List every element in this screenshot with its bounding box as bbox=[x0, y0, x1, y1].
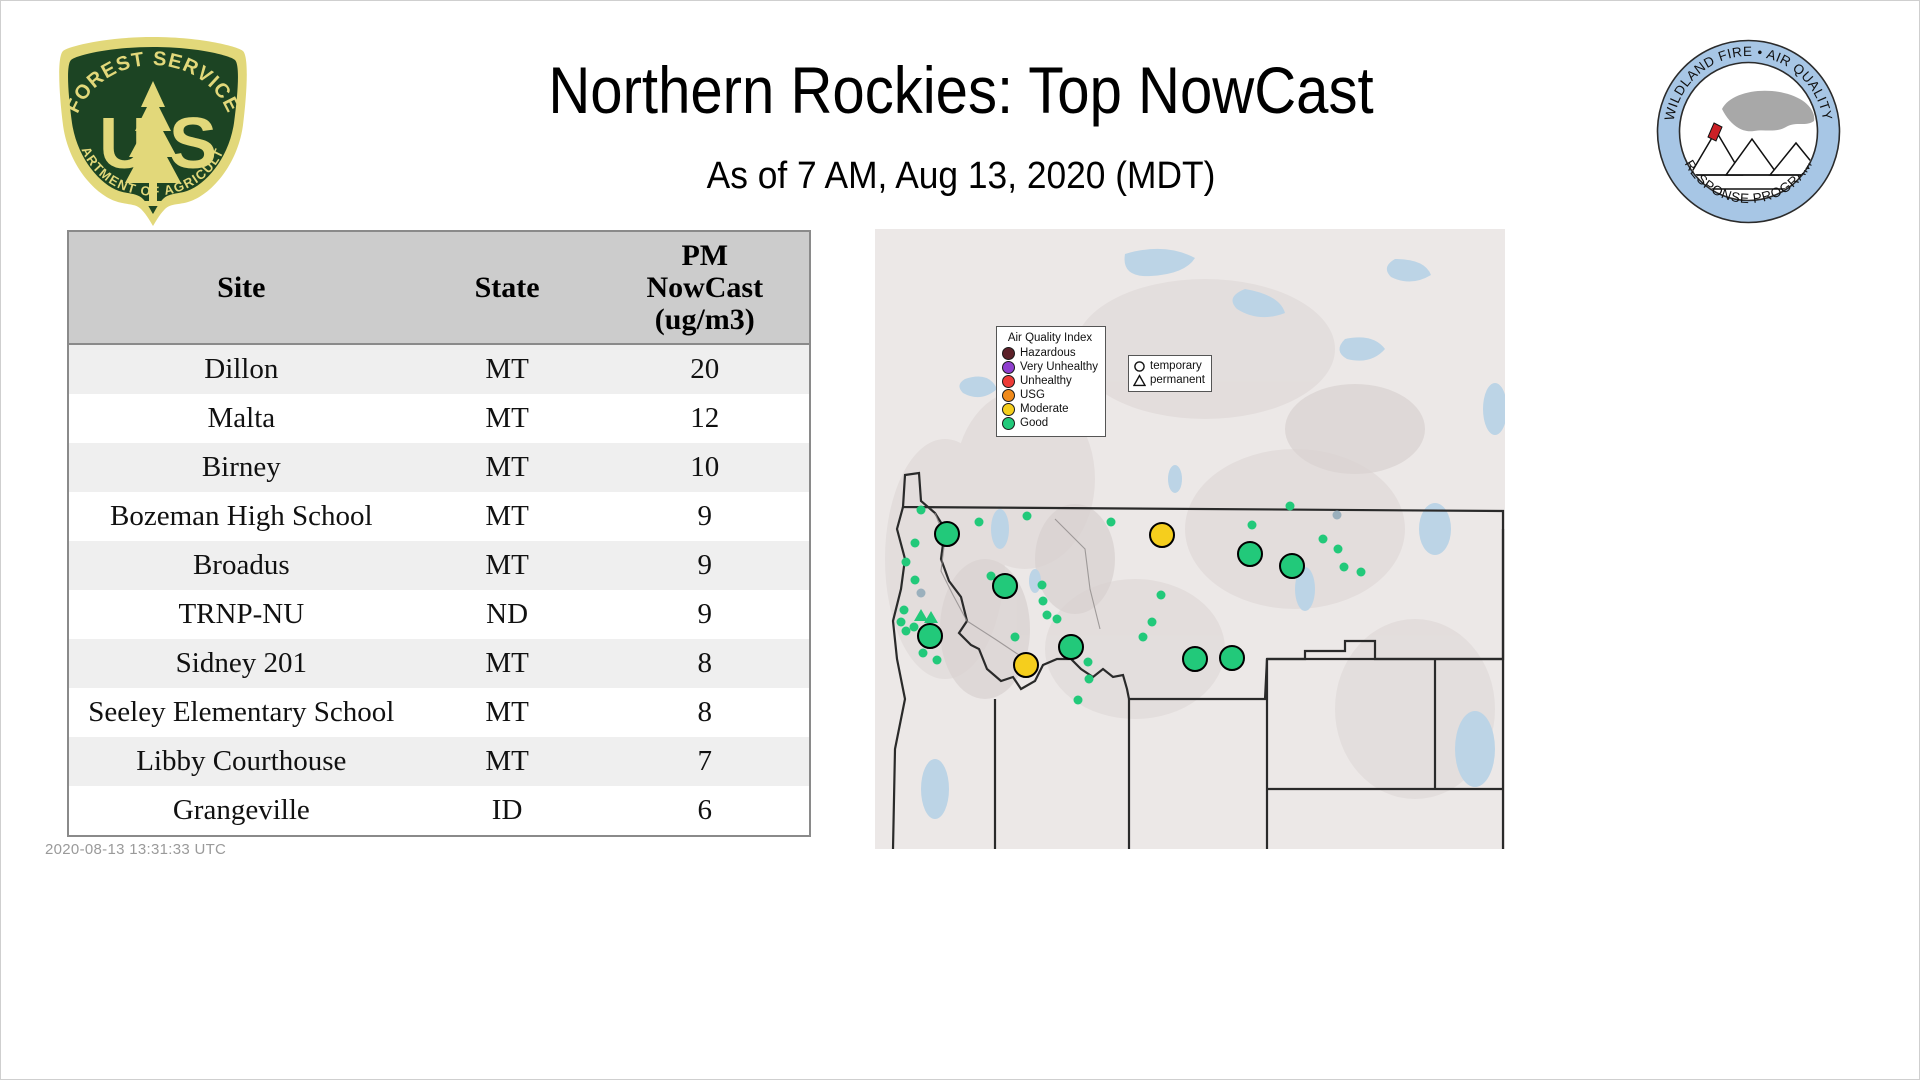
legend-color-dot-icon bbox=[1002, 417, 1015, 430]
state-cell: MT bbox=[414, 394, 601, 443]
table-row: TRNP-NUND9 bbox=[69, 590, 809, 639]
map-monitor-dot[interactable] bbox=[1139, 633, 1148, 642]
state-cell: ID bbox=[414, 786, 601, 835]
air-quality-monitor-map[interactable]: Air Quality Index HazardousVery Unhealth… bbox=[875, 229, 1505, 849]
site-cell: Libby Courthouse bbox=[69, 737, 414, 786]
legend-color-dot-icon bbox=[1002, 361, 1015, 374]
state-cell: MT bbox=[414, 639, 601, 688]
site-cell: TRNP-NU bbox=[69, 590, 414, 639]
pm-nowcast-cell: 20 bbox=[601, 344, 809, 394]
map-monitor-dot[interactable] bbox=[975, 518, 984, 527]
legend-permanent-label: permanent bbox=[1150, 373, 1205, 387]
site-cell: Broadus bbox=[69, 541, 414, 590]
usda-forest-service-logo: FOREST SERVICE DEPARTMENT OF AGRICULTURE… bbox=[53, 33, 253, 228]
legend-temporary-label: temporary bbox=[1150, 359, 1202, 373]
pm-nowcast-cell: 9 bbox=[601, 590, 809, 639]
pm-header-line-1: PM bbox=[605, 240, 805, 272]
map-monitor-dot[interactable] bbox=[1085, 675, 1094, 684]
permanent-triangle-icon bbox=[1133, 374, 1146, 387]
pm-nowcast-cell: 7 bbox=[601, 737, 809, 786]
map-top-site-marker[interactable] bbox=[1058, 634, 1084, 660]
map-monitor-dot[interactable] bbox=[902, 558, 911, 567]
map-top-site-marker[interactable] bbox=[1279, 553, 1305, 579]
map-monitor-dot[interactable] bbox=[1286, 502, 1295, 511]
legend-monitor-type: temporary permanent bbox=[1128, 355, 1212, 392]
pm-nowcast-cell: 8 bbox=[601, 639, 809, 688]
pm-nowcast-cell: 10 bbox=[601, 443, 809, 492]
legend-item-label: Good bbox=[1020, 417, 1048, 430]
legend-color-dot-icon bbox=[1002, 389, 1015, 402]
map-monitor-dot[interactable] bbox=[917, 589, 926, 598]
column-header-site: Site bbox=[69, 232, 414, 344]
legend-color-dot-icon bbox=[1002, 403, 1015, 416]
pm-nowcast-cell: 9 bbox=[601, 492, 809, 541]
legend-permanent-row: permanent bbox=[1133, 373, 1205, 387]
table-row: Bozeman High SchoolMT9 bbox=[69, 492, 809, 541]
table-row: BirneyMT10 bbox=[69, 443, 809, 492]
map-monitor-dot[interactable] bbox=[919, 649, 928, 658]
map-monitor-dot[interactable] bbox=[1043, 611, 1052, 620]
map-monitor-dot[interactable] bbox=[1148, 618, 1157, 627]
map-monitor-dot[interactable] bbox=[1248, 521, 1257, 530]
legend-item: Good bbox=[1002, 417, 1098, 430]
map-monitor-dot[interactable] bbox=[933, 656, 942, 665]
map-monitor-dot[interactable] bbox=[911, 539, 920, 548]
legend-item-label: Hazardous bbox=[1020, 347, 1076, 360]
map-monitor-dot[interactable] bbox=[911, 576, 920, 585]
map-monitor-dot[interactable] bbox=[1107, 518, 1116, 527]
pm-header-line-3: (ug/m3) bbox=[605, 304, 805, 336]
map-monitor-dot[interactable] bbox=[1357, 568, 1366, 577]
map-monitor-dot[interactable] bbox=[1039, 597, 1048, 606]
table-row: DillonMT20 bbox=[69, 344, 809, 394]
map-top-site-marker[interactable] bbox=[934, 521, 960, 547]
map-top-site-marker[interactable] bbox=[1149, 522, 1175, 548]
map-top-site-marker[interactable] bbox=[1182, 646, 1208, 672]
map-monitor-dot[interactable] bbox=[1074, 696, 1083, 705]
column-header-pm-nowcast: PM NowCast (ug/m3) bbox=[601, 232, 809, 344]
table-row: Libby CourthouseMT7 bbox=[69, 737, 809, 786]
legend-air-quality-index: Air Quality Index HazardousVery Unhealth… bbox=[996, 326, 1106, 437]
legend-color-dot-icon bbox=[1002, 347, 1015, 360]
legend-item: Hazardous bbox=[1002, 347, 1098, 360]
legend-item: Moderate bbox=[1002, 403, 1098, 416]
legend-color-dot-icon bbox=[1002, 375, 1015, 388]
map-monitor-dot[interactable] bbox=[1084, 658, 1093, 667]
map-monitor-dot[interactable] bbox=[1023, 512, 1032, 521]
legend-item-label: Unhealthy bbox=[1020, 375, 1072, 388]
generated-timestamp: 2020-08-13 13:31:33 UTC bbox=[45, 841, 226, 858]
map-permanent-monitor-triangle[interactable] bbox=[924, 611, 938, 623]
table-row: BroadusMT9 bbox=[69, 541, 809, 590]
map-monitor-dot[interactable] bbox=[1333, 511, 1342, 520]
map-monitor-dot[interactable] bbox=[1319, 535, 1328, 544]
legend-item: Unhealthy bbox=[1002, 375, 1098, 388]
state-cell: MT bbox=[414, 688, 601, 737]
site-cell: Birney bbox=[69, 443, 414, 492]
map-top-site-marker[interactable] bbox=[1013, 652, 1039, 678]
legend-item: Very Unhealthy bbox=[1002, 361, 1098, 374]
site-cell: Sidney 201 bbox=[69, 639, 414, 688]
slide-page: FOREST SERVICE DEPARTMENT OF AGRICULTURE… bbox=[0, 0, 1920, 1080]
fs-logo-letter-s: S bbox=[169, 104, 217, 184]
legend-item-label: Moderate bbox=[1020, 403, 1069, 416]
wfaqrp-logo: WILDLAND FIRE • AIR QUALITY RESPONSE PRO… bbox=[1656, 39, 1841, 224]
legend-title: Air Quality Index bbox=[1002, 332, 1098, 344]
legend-temporary-row: temporary bbox=[1133, 359, 1205, 373]
site-cell: Malta bbox=[69, 394, 414, 443]
table-row: MaltaMT12 bbox=[69, 394, 809, 443]
map-top-site-marker[interactable] bbox=[1237, 541, 1263, 567]
state-cell: MT bbox=[414, 344, 601, 394]
top-nowcast-table: Site State PM NowCast (ug/m3) DillonMT20… bbox=[67, 230, 811, 837]
map-monitor-dot[interactable] bbox=[897, 618, 906, 627]
map-monitor-dot[interactable] bbox=[917, 506, 926, 515]
map-monitor-dot[interactable] bbox=[900, 606, 909, 615]
state-cell: ND bbox=[414, 590, 601, 639]
column-header-state: State bbox=[414, 232, 601, 344]
table-row: Sidney 201MT8 bbox=[69, 639, 809, 688]
site-cell: Bozeman High School bbox=[69, 492, 414, 541]
table-header-row: Site State PM NowCast (ug/m3) bbox=[69, 232, 809, 344]
map-monitor-dot[interactable] bbox=[1340, 563, 1349, 572]
site-cell: Dillon bbox=[69, 344, 414, 394]
pm-header-line-2: NowCast bbox=[605, 272, 805, 304]
pm-nowcast-cell: 12 bbox=[601, 394, 809, 443]
state-cell: MT bbox=[414, 541, 601, 590]
map-monitor-dot[interactable] bbox=[1334, 545, 1343, 554]
map-monitor-dot[interactable] bbox=[1157, 591, 1166, 600]
map-basemap bbox=[875, 229, 1505, 849]
map-monitor-dot[interactable] bbox=[1053, 615, 1062, 624]
map-top-site-marker[interactable] bbox=[992, 573, 1018, 599]
pm-nowcast-cell: 8 bbox=[601, 688, 809, 737]
state-cell: MT bbox=[414, 443, 601, 492]
state-cell: MT bbox=[414, 492, 601, 541]
state-cell: MT bbox=[414, 737, 601, 786]
table-row: GrangevilleID6 bbox=[69, 786, 809, 835]
pm-nowcast-cell: 6 bbox=[601, 786, 809, 835]
map-monitor-dot[interactable] bbox=[1011, 633, 1020, 642]
temporary-circle-icon bbox=[1133, 360, 1146, 373]
legend-item-label: USG bbox=[1020, 389, 1045, 402]
site-cell: Grangeville bbox=[69, 786, 414, 835]
table-row: Seeley Elementary SchoolMT8 bbox=[69, 688, 809, 737]
page-title: Northern Rockies: Top NowCast bbox=[380, 53, 1542, 127]
map-top-site-marker[interactable] bbox=[917, 623, 943, 649]
map-monitor-dot[interactable] bbox=[1038, 581, 1047, 590]
page-subtitle: As of 7 AM, Aug 13, 2020 (MDT) bbox=[347, 153, 1575, 199]
legend-item-label: Very Unhealthy bbox=[1020, 361, 1098, 374]
site-cell: Seeley Elementary School bbox=[69, 688, 414, 737]
pm-nowcast-cell: 9 bbox=[601, 541, 809, 590]
map-top-site-marker[interactable] bbox=[1219, 645, 1245, 671]
legend-item: USG bbox=[1002, 389, 1098, 402]
